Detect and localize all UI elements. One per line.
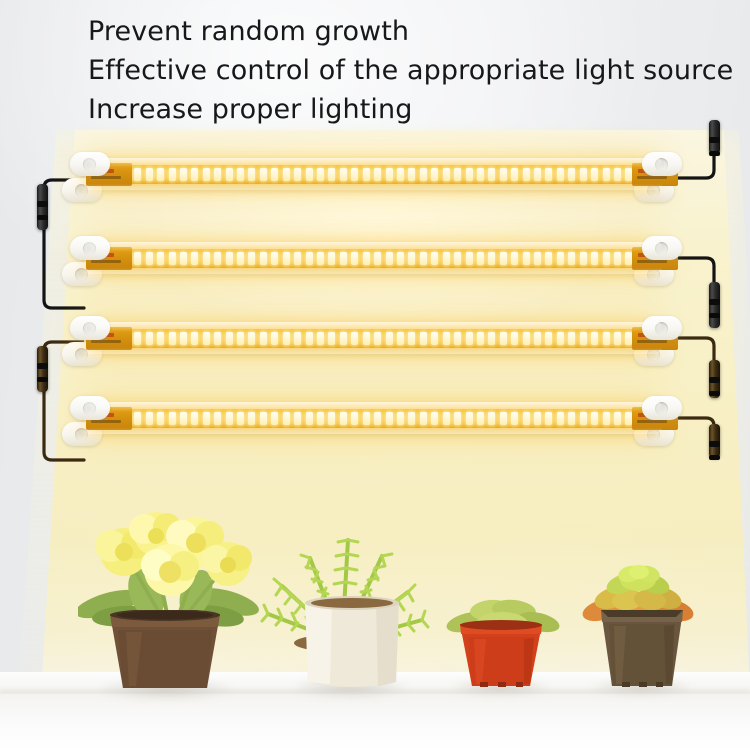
led-chip <box>260 168 267 181</box>
led-chip <box>191 168 198 181</box>
led-chip <box>317 168 324 181</box>
led-chip <box>271 412 278 425</box>
led-strip <box>94 409 650 428</box>
mount-tab-top-right <box>642 236 682 260</box>
led-chip <box>477 412 484 425</box>
cream-cylinder-pot <box>302 596 402 690</box>
led-chip <box>226 168 233 181</box>
led-chip <box>374 252 381 265</box>
led-chip <box>260 412 267 425</box>
led-chip <box>340 412 347 425</box>
led-chip <box>351 412 358 425</box>
dc-connector-right-bar1 <box>709 120 720 154</box>
led-strip <box>94 165 650 184</box>
led-chip <box>568 168 575 181</box>
led-chip <box>568 252 575 265</box>
led-chip <box>523 412 530 425</box>
led-chip <box>214 332 221 345</box>
led-array <box>100 252 644 265</box>
led-chip <box>397 332 404 345</box>
mount-tab-top-left <box>70 396 110 420</box>
headline-block: Prevent random growth Effective control … <box>88 12 738 129</box>
led-chip <box>591 412 598 425</box>
led-chip <box>443 168 450 181</box>
product-image: Prevent random growth Effective control … <box>0 0 750 750</box>
led-chip <box>523 252 530 265</box>
dc-connector-left-upper <box>37 184 48 230</box>
led-chip <box>523 332 530 345</box>
led-chip <box>317 252 324 265</box>
led-chip <box>580 412 587 425</box>
led-chip <box>431 252 438 265</box>
led-chip <box>340 168 347 181</box>
led-chip <box>454 168 461 181</box>
mount-tab-top-right <box>642 316 682 340</box>
led-chip <box>557 332 564 345</box>
led-chip <box>214 412 221 425</box>
led-chip <box>226 332 233 345</box>
led-chip <box>134 168 141 181</box>
led-chip <box>580 332 587 345</box>
led-chip <box>203 412 210 425</box>
led-chip <box>466 412 473 425</box>
led-chip <box>591 332 598 345</box>
led-chip <box>203 252 210 265</box>
dc-connector-left-lower <box>37 346 48 392</box>
led-chip <box>603 252 610 265</box>
headline-line-2: Effective control of the appropriate lig… <box>88 51 738 90</box>
led-array <box>100 412 644 425</box>
led-chip <box>363 252 370 265</box>
led-chip <box>283 252 290 265</box>
led-array <box>100 332 644 345</box>
mount-tab-top-left <box>70 236 110 260</box>
led-bar-4[interactable] <box>62 396 682 448</box>
led-chip <box>169 252 176 265</box>
led-chip <box>466 168 473 181</box>
led-chip <box>340 252 347 265</box>
led-chip <box>420 412 427 425</box>
led-bar-2[interactable] <box>62 236 682 288</box>
led-chip <box>203 168 210 181</box>
led-chip <box>500 252 507 265</box>
led-chip <box>374 168 381 181</box>
led-chip <box>180 252 187 265</box>
led-chip <box>511 332 518 345</box>
led-chip <box>557 412 564 425</box>
led-chip <box>408 332 415 345</box>
mount-tab-top-left <box>70 316 110 340</box>
headline-line-3: Increase proper lighting <box>88 90 738 129</box>
led-chip <box>317 412 324 425</box>
led-chip <box>214 252 221 265</box>
led-chip <box>317 332 324 345</box>
led-chip <box>306 412 313 425</box>
led-chip <box>306 252 313 265</box>
led-chip <box>157 412 164 425</box>
mount-tab-top-right <box>642 152 682 176</box>
led-chip <box>363 332 370 345</box>
led-chip <box>248 332 255 345</box>
led-chip <box>534 168 541 181</box>
led-strip <box>94 249 650 268</box>
headline-line-1: Prevent random growth <box>88 12 738 51</box>
led-chip <box>488 412 495 425</box>
dc-connector-right-bar3 <box>709 360 720 398</box>
led-chip <box>169 168 176 181</box>
led-chip <box>466 252 473 265</box>
dc-connector-right-bar4 <box>709 424 720 458</box>
led-chip <box>363 168 370 181</box>
mount-tab-top-right <box>642 396 682 420</box>
led-chip <box>466 332 473 345</box>
led-chip <box>180 412 187 425</box>
led-chip <box>351 168 358 181</box>
terracotta-pot <box>458 620 544 690</box>
led-chip <box>237 168 244 181</box>
led-chip <box>134 252 141 265</box>
led-chip <box>386 412 393 425</box>
led-chip <box>488 332 495 345</box>
led-chip <box>454 412 461 425</box>
led-chip <box>374 332 381 345</box>
led-chip <box>374 412 381 425</box>
led-bar-1[interactable] <box>62 152 682 204</box>
led-chip <box>431 332 438 345</box>
led-chip <box>386 168 393 181</box>
led-chip <box>511 412 518 425</box>
led-chip <box>306 332 313 345</box>
led-chip <box>203 332 210 345</box>
led-chip <box>397 412 404 425</box>
led-chip <box>328 168 335 181</box>
led-chip <box>443 412 450 425</box>
led-array <box>100 168 644 181</box>
brown-square-pot <box>598 604 686 690</box>
led-chip <box>146 332 153 345</box>
led-chip <box>157 252 164 265</box>
led-chip <box>420 168 427 181</box>
led-chip <box>603 168 610 181</box>
led-chip <box>557 168 564 181</box>
led-chip <box>397 168 404 181</box>
led-chip <box>454 252 461 265</box>
led-strip <box>94 329 650 348</box>
led-chip <box>500 168 507 181</box>
led-chip <box>591 252 598 265</box>
led-chip <box>408 252 415 265</box>
led-chip <box>271 168 278 181</box>
led-chip <box>603 412 610 425</box>
led-chip <box>603 332 610 345</box>
table-front <box>0 694 750 750</box>
led-chip <box>408 412 415 425</box>
led-chip <box>214 168 221 181</box>
led-chip <box>534 252 541 265</box>
led-chip <box>294 412 301 425</box>
led-chip <box>328 412 335 425</box>
led-chip <box>614 412 621 425</box>
led-chip <box>386 332 393 345</box>
led-chip <box>420 252 427 265</box>
led-chip <box>443 332 450 345</box>
led-chip <box>306 168 313 181</box>
led-chip <box>488 252 495 265</box>
led-chip <box>580 168 587 181</box>
led-chip <box>328 332 335 345</box>
led-chip <box>477 332 484 345</box>
led-chip <box>146 412 153 425</box>
led-chip <box>157 168 164 181</box>
led-chip <box>580 252 587 265</box>
led-chip <box>237 412 244 425</box>
mount-tab-top-left <box>70 152 110 176</box>
led-chip <box>500 332 507 345</box>
led-chip <box>351 252 358 265</box>
led-bar-3[interactable] <box>62 316 682 368</box>
led-chip <box>614 168 621 181</box>
led-chip <box>260 332 267 345</box>
led-chip <box>226 252 233 265</box>
led-chip <box>431 168 438 181</box>
led-chip <box>248 412 255 425</box>
led-chip <box>511 252 518 265</box>
led-chip <box>523 168 530 181</box>
led-chip <box>146 252 153 265</box>
led-chip <box>191 252 198 265</box>
led-chip <box>191 412 198 425</box>
led-chip <box>237 252 244 265</box>
led-chip <box>283 332 290 345</box>
led-chip <box>180 168 187 181</box>
led-chip <box>146 168 153 181</box>
led-chip <box>500 412 507 425</box>
led-chip <box>283 412 290 425</box>
led-chip <box>260 252 267 265</box>
led-chip <box>534 332 541 345</box>
led-chip <box>420 332 427 345</box>
led-chip <box>511 168 518 181</box>
led-chip <box>134 412 141 425</box>
led-chip <box>180 332 187 345</box>
led-chip <box>386 252 393 265</box>
led-chip <box>454 332 461 345</box>
led-chip <box>614 332 621 345</box>
led-chip <box>351 332 358 345</box>
led-chip <box>191 332 198 345</box>
led-chip <box>488 168 495 181</box>
led-chip <box>557 252 564 265</box>
led-chip <box>248 168 255 181</box>
led-chip <box>545 252 552 265</box>
led-chip <box>271 252 278 265</box>
led-chip <box>157 332 164 345</box>
led-chip <box>294 252 301 265</box>
led-chip <box>271 332 278 345</box>
brown-round-pot <box>108 610 222 690</box>
led-chip <box>408 168 415 181</box>
led-chip <box>237 332 244 345</box>
led-chip <box>340 332 347 345</box>
led-chip <box>283 168 290 181</box>
led-chip <box>169 412 176 425</box>
led-chip <box>568 332 575 345</box>
led-chip <box>443 252 450 265</box>
led-chip <box>294 168 301 181</box>
led-chip <box>328 252 335 265</box>
led-chip <box>534 412 541 425</box>
dc-connector-right-bar2 <box>709 282 720 328</box>
led-chip <box>134 332 141 345</box>
led-chip <box>294 332 301 345</box>
led-chip <box>226 412 233 425</box>
led-chip <box>477 252 484 265</box>
led-chip <box>568 412 575 425</box>
led-chip <box>477 168 484 181</box>
led-chip <box>614 252 621 265</box>
led-chip <box>545 412 552 425</box>
led-chip <box>248 252 255 265</box>
led-chip <box>397 252 404 265</box>
led-chip <box>431 412 438 425</box>
led-chip <box>591 168 598 181</box>
blooms-yellow-flowers <box>95 512 252 596</box>
led-chip <box>363 412 370 425</box>
led-chip <box>169 332 176 345</box>
led-chip <box>545 168 552 181</box>
led-chip <box>545 332 552 345</box>
